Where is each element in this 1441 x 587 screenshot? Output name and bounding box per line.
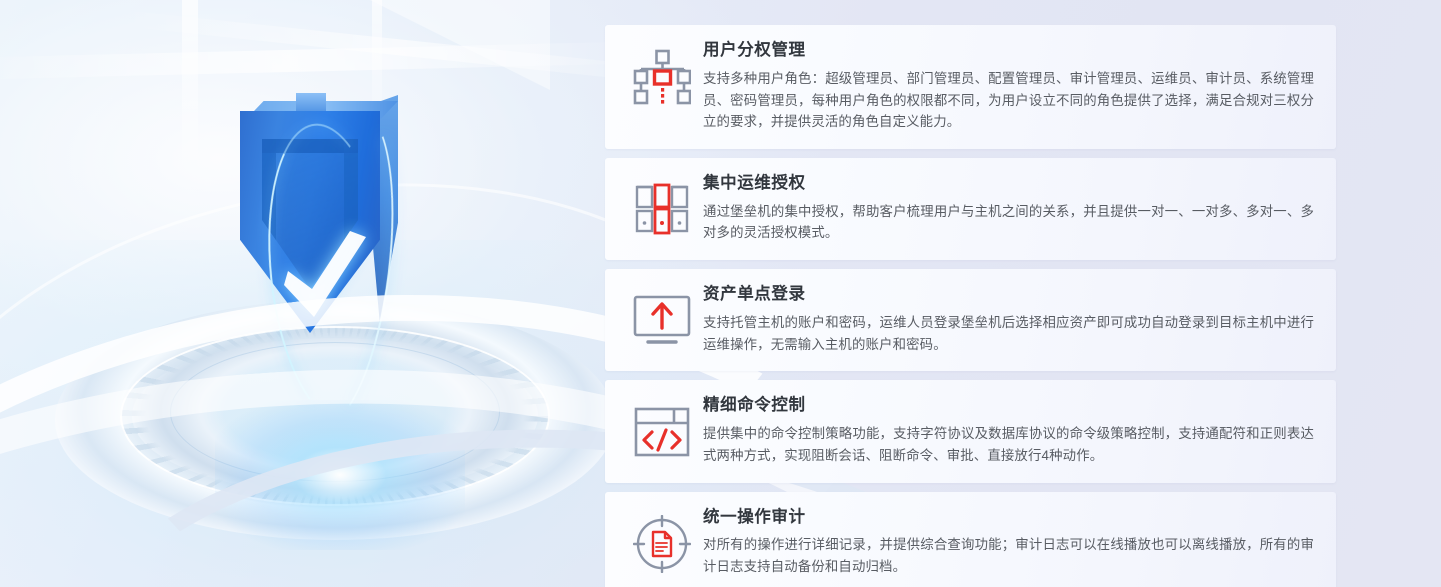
feature-card-asset-single-sign-on[interactable]: 资产单点登录 支持托管主机的账户和密码，运维人员登录堡垒机后选择相应资产即可成功…: [605, 269, 1336, 371]
crosshair-document-audit-icon: [625, 512, 699, 576]
feature-card-title: 用户分权管理: [703, 41, 1314, 61]
org-chart-hierarchy-icon: [625, 45, 699, 109]
feature-card-title: 集中运维授权: [703, 174, 1314, 194]
feature-card-description: 对所有的操作进行详细记录，并提供综合查询功能；审计日志可以在线播放也可以离线播放…: [703, 534, 1314, 577]
monitor-upload-arrow-icon: [625, 289, 699, 353]
feature-card-text: 统一操作审计 对所有的操作进行详细记录，并提供综合查询功能；审计日志可以在线播放…: [699, 508, 1314, 578]
platform-center-glow: [215, 400, 465, 550]
background-beam-vertical-1: [182, 0, 198, 180]
feature-card-operation-audit[interactable]: 统一操作审计 对所有的操作进行详细记录，并提供综合查询功能；审计日志可以在线播放…: [605, 492, 1336, 587]
feature-card-description: 提供集中的命令控制策略功能，支持字符协议及数据库协议的命令级策略控制，支持通配符…: [703, 423, 1314, 466]
feature-card-title: 精细命令控制: [703, 396, 1314, 416]
feature-card-description: 支持托管主机的账户和密码，运维人员登录堡垒机后选择相应资产即可成功自动登录到目标…: [703, 312, 1314, 355]
feature-card-text: 精细命令控制 提供集中的命令控制策略功能，支持字符协议及数据库协议的命令级策略控…: [699, 396, 1314, 466]
background-beam-horizontal-1: [0, 42, 620, 80]
background-beam-horizontal-2: [119, 10, 678, 84]
feature-card-list: 用户分权管理 支持多种用户角色：超级管理员、部门管理员、配置管理员、审计管理员、…: [605, 25, 1336, 587]
feature-card-command-control[interactable]: 精细命令控制 提供集中的命令控制策略功能，支持字符协议及数据库协议的命令级策略控…: [605, 380, 1336, 482]
page-root: 用户分权管理 支持多种用户角色：超级管理员、部门管理员、配置管理员、审计管理员、…: [0, 0, 1441, 587]
feature-card-description: 通过堡垒机的集中授权，帮助客户梳理用户与主机之间的关系，并且提供一对一、一对多、…: [703, 201, 1314, 244]
feature-card-title: 资产单点登录: [703, 285, 1314, 305]
background-triangle-shape: [290, 0, 550, 90]
security-shield-illustration: [232, 105, 402, 355]
feature-card-title: 统一操作审计: [703, 508, 1314, 528]
feature-card-user-role-management[interactable]: 用户分权管理 支持多种用户角色：超级管理员、部门管理员、配置管理员、审计管理员、…: [605, 25, 1336, 149]
code-window-icon: [625, 400, 699, 464]
feature-card-description: 支持多种用户角色：超级管理员、部门管理员、配置管理员、审计管理员、运维员、审计员…: [703, 68, 1314, 133]
feature-card-text: 集中运维授权 通过堡垒机的集中授权，帮助客户梳理用户与主机之间的关系，并且提供一…: [699, 174, 1314, 244]
feature-card-text: 资产单点登录 支持托管主机的账户和密码，运维人员登录堡垒机后选择相应资产即可成功…: [699, 285, 1314, 355]
feature-card-text: 用户分权管理 支持多种用户角色：超级管理员、部门管理员、配置管理员、审计管理员、…: [699, 41, 1314, 133]
server-rack-icon: [625, 178, 699, 242]
feature-card-centralized-authorization[interactable]: 集中运维授权 通过堡垒机的集中授权，帮助客户梳理用户与主机之间的关系，并且提供一…: [605, 158, 1336, 260]
